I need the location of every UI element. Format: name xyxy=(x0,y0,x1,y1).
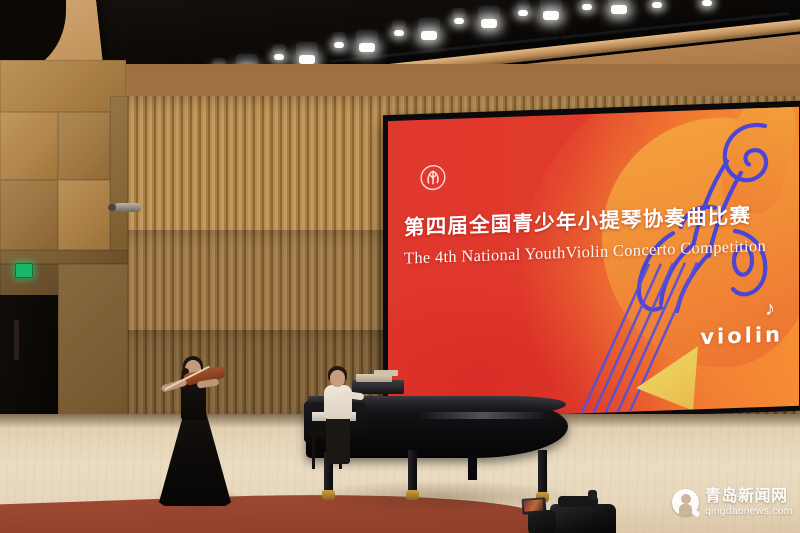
piano-reflection xyxy=(418,412,548,419)
stage-light-fixture xyxy=(540,0,562,15)
wall-light-fixture xyxy=(115,203,141,212)
exit-sign-icon xyxy=(15,263,33,278)
led-screen: 第四届全国青少年小提琴协奏曲比赛 The 4th National YouthV… xyxy=(388,107,799,420)
video-camera xyxy=(534,492,632,533)
screenshot-root: 第四届全国青少年小提琴协奏曲比赛 The 4th National YouthV… xyxy=(0,0,800,533)
piano-leg xyxy=(408,450,417,492)
stage-light-fixture xyxy=(296,42,318,59)
piano-pedal-lyre xyxy=(468,454,477,480)
watermark-text: 青岛新闻网 qingdaonews.com xyxy=(705,489,793,517)
acoustic-panel xyxy=(0,180,58,250)
piano-caster xyxy=(406,490,419,500)
acoustic-panel xyxy=(0,112,58,180)
wall-ledge xyxy=(0,250,128,264)
violinist-performer xyxy=(163,352,227,502)
music-note-icon: ♪ xyxy=(765,298,775,321)
violinist-gown xyxy=(159,414,231,506)
led-screen-frame: 第四届全国青少年小提琴协奏曲比赛 The 4th National YouthV… xyxy=(383,101,800,426)
pianist-legs xyxy=(326,416,350,464)
acoustic-panel xyxy=(110,96,128,256)
stage-light-fixture xyxy=(418,18,440,35)
piano-caster xyxy=(322,490,335,500)
competition-emblem-icon xyxy=(419,163,447,192)
logo-tail xyxy=(690,508,701,518)
stage-light-fixture xyxy=(478,6,500,23)
stage-light-fixture xyxy=(608,0,630,9)
camera-microphone xyxy=(588,490,597,500)
qingdaonews-logo-icon xyxy=(672,489,699,516)
watermark: 青岛新闻网 qingdaonews.com xyxy=(672,489,793,517)
violin-wordmark: violin xyxy=(700,322,783,349)
camera-body xyxy=(550,504,616,533)
piano-leg xyxy=(538,450,547,494)
door-handle[interactable] xyxy=(14,320,19,360)
acoustic-panel xyxy=(0,60,126,112)
pianist-head xyxy=(330,370,345,387)
pianist-top xyxy=(324,385,352,419)
camera-lcd-screen xyxy=(521,497,546,515)
stage-light-fixture xyxy=(356,30,378,47)
acoustic-panel xyxy=(58,180,110,250)
watermark-name-en: qingdaonews.com xyxy=(705,506,793,517)
sheet-music xyxy=(374,370,398,376)
pianist-performer xyxy=(322,366,362,466)
acoustic-panel xyxy=(58,112,110,180)
watermark-name-cn: 青岛新闻网 xyxy=(705,489,793,506)
